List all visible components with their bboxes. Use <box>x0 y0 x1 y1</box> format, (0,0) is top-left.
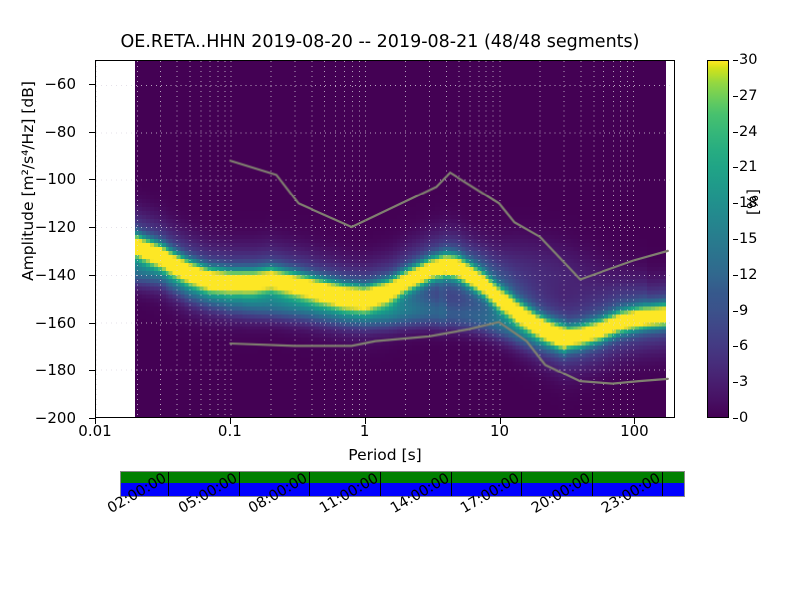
colorbar-tick-label: 6 <box>739 338 748 354</box>
colorbar-tick-mark <box>733 346 738 347</box>
y-axis-ticklabels: −60−80−100−120−140−160−180−200 <box>0 60 88 418</box>
coverage-band-green <box>121 472 684 483</box>
y-tick-mark <box>89 227 95 228</box>
y-tick-mark <box>89 132 95 133</box>
x-tick-label: 1 <box>360 422 370 440</box>
colorbar-tick-mark <box>733 132 738 133</box>
y-tick-mark <box>89 323 95 324</box>
colorbar-tick-mark <box>733 311 738 312</box>
y-tick-label: −80 <box>44 123 76 141</box>
page-title: OE.RETA..HHN 2019-08-20 -- 2019-08-21 (4… <box>0 32 760 52</box>
colorbar-tick-mark <box>733 167 738 168</box>
x-tick-mark <box>500 418 501 424</box>
y-tick-mark <box>89 370 95 371</box>
colorbar-tick-label: 27 <box>739 88 757 104</box>
x-axis-label: Period [s] <box>95 446 675 464</box>
y-tick-label: −60 <box>44 75 76 93</box>
colorbar-tick-mark <box>733 418 738 419</box>
colorbar-ticklabels: 302724211815129630 <box>733 60 763 418</box>
x-tick-label: 10 <box>490 422 509 440</box>
ppsd-histogram-plot[interactable] <box>95 60 675 418</box>
x-tick-label: 0.1 <box>218 422 242 440</box>
y-tick-mark <box>89 275 95 276</box>
ppsd-histogram-canvas <box>96 61 674 417</box>
x-axis-ticklabels: 0.010.1110100 <box>95 420 675 444</box>
y-tick-label: −100 <box>35 170 76 188</box>
colorbar <box>707 60 729 418</box>
colorbar-tick-label: 15 <box>739 231 757 247</box>
x-tick-label: 0.01 <box>78 422 111 440</box>
y-tick-label: −200 <box>35 409 76 427</box>
y-tick-mark <box>89 179 95 180</box>
colorbar-tick-mark <box>733 382 738 383</box>
colorbar-tick-label: 9 <box>739 303 748 319</box>
colorbar-tick-mark <box>733 275 738 276</box>
colorbar-tick-label: 3 <box>739 374 748 390</box>
colorbar-tick-label: 30 <box>739 52 757 68</box>
x-tick-mark <box>230 418 231 424</box>
colorbar-tick-mark <box>733 96 738 97</box>
colorbar-tick-mark <box>733 203 738 204</box>
y-tick-label: −140 <box>35 266 76 284</box>
x-tick-mark <box>95 418 96 424</box>
colorbar-tick-mark <box>733 60 738 61</box>
ppsd-density-image <box>96 61 674 417</box>
y-tick-label: −180 <box>35 361 76 379</box>
coverage-time-ticklabels: 02:00:0005:00:0008:00:0011:00:0014:00:00… <box>0 497 800 587</box>
y-tick-label: −160 <box>35 314 76 332</box>
colorbar-tick-label: 24 <box>739 124 757 140</box>
colorbar-tick-label: 21 <box>739 159 757 175</box>
y-tick-label: −120 <box>35 218 76 236</box>
ppsd-figure: OE.RETA..HHN 2019-08-20 -- 2019-08-21 (4… <box>0 0 800 600</box>
x-tick-mark <box>365 418 366 424</box>
colorbar-tick-mark <box>733 239 738 240</box>
colorbar-tick-label: 12 <box>739 267 757 283</box>
x-tick-mark <box>634 418 635 424</box>
y-tick-mark <box>89 84 95 85</box>
x-tick-label: 100 <box>620 422 649 440</box>
colorbar-tick-label: 0 <box>739 410 748 426</box>
colorbar-unit-label: [%] <box>744 189 762 215</box>
